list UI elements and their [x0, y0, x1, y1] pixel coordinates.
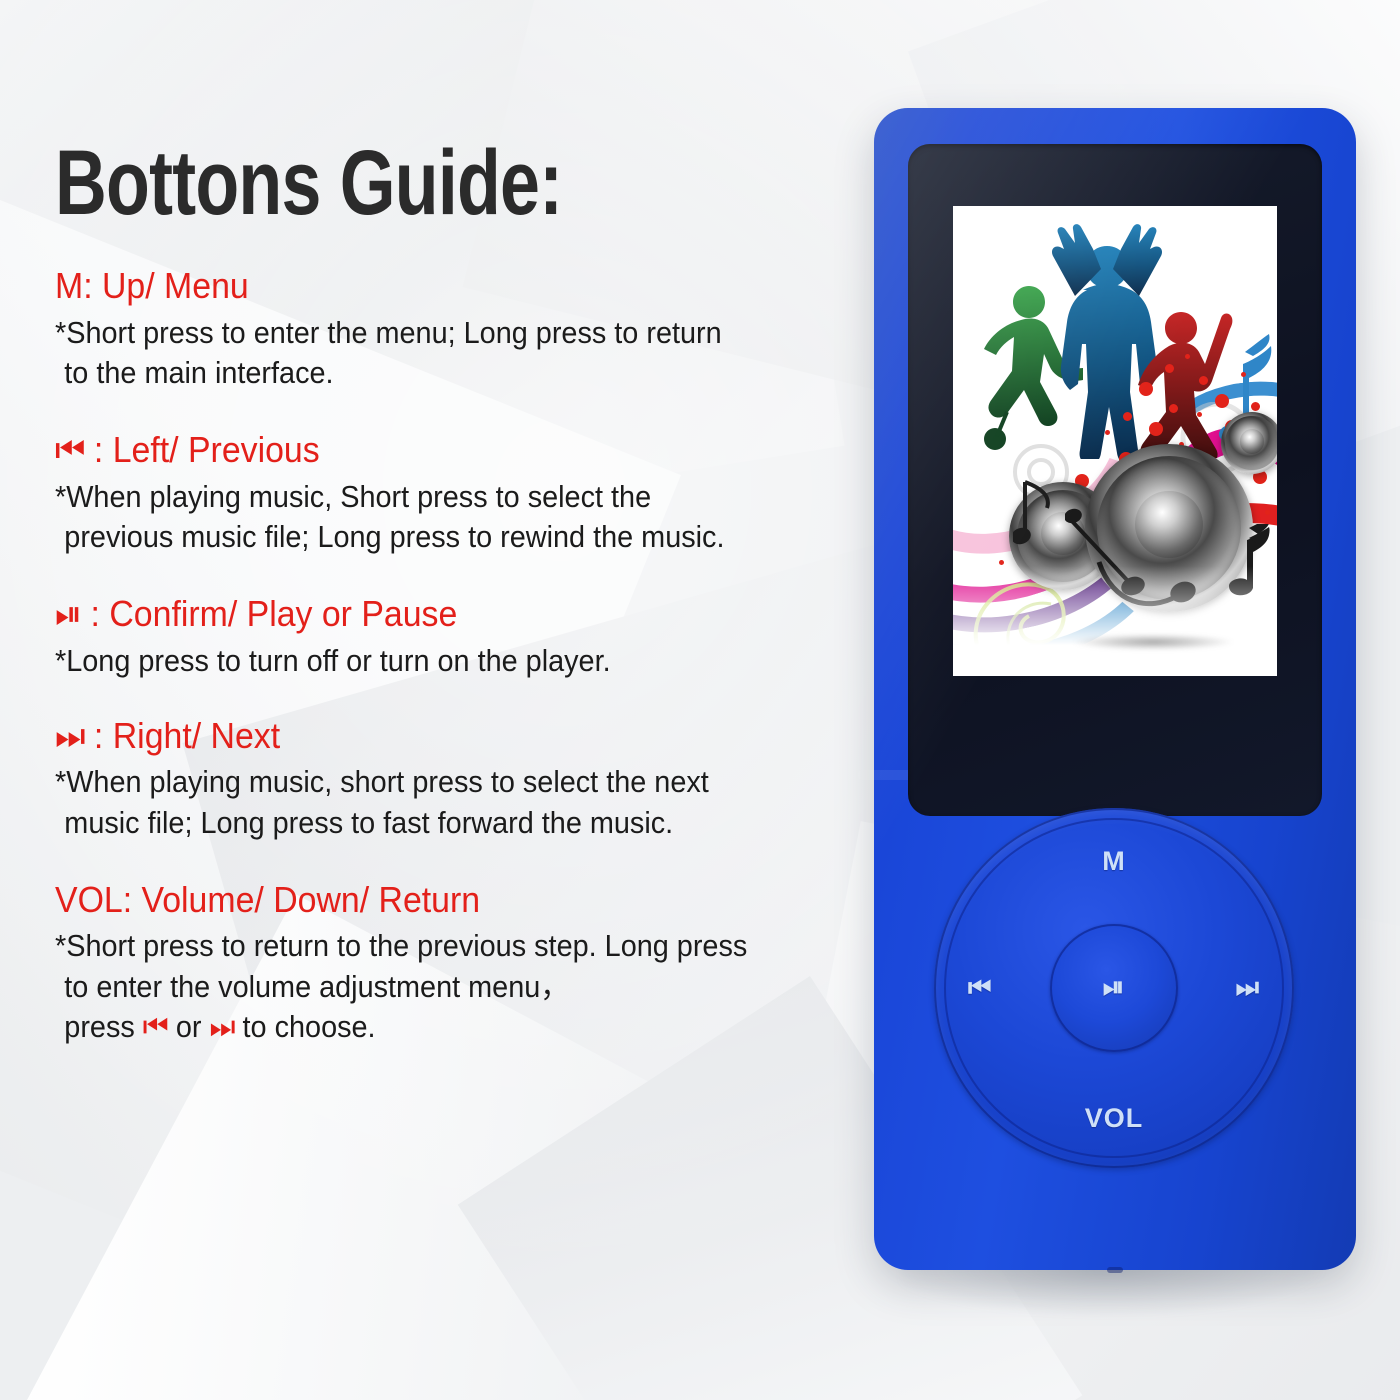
- section-next-line-2: music file; Long press to fast forward t…: [55, 803, 808, 843]
- section-menu-line-2: to the main interface.: [55, 353, 808, 393]
- mp3-player-device: M ⏮ ⏭ VOL ⏯: [874, 108, 1356, 1270]
- previous-track-inline-icon: ⏮: [143, 1009, 168, 1044]
- previous-track-icon: ⏮: [55, 429, 85, 470]
- section-previous-body: *When playing music, Short press to sele…: [55, 477, 808, 558]
- section-menu-heading: M: Up/ Menu: [55, 265, 816, 306]
- section-volume-heading: VOL: Volume/ Down/ Return: [55, 879, 816, 920]
- lcd-bottom-fade: [953, 566, 1277, 676]
- section-menu-line-1: *Short press to enter the menu; Long pre…: [55, 313, 808, 353]
- section-previous-heading: ⏮ : Left/ Previous: [55, 429, 816, 470]
- section-volume-press-suffix: to choose.: [235, 1009, 376, 1044]
- section-previous-line-2: previous music file; Long press to rewin…: [55, 517, 808, 557]
- section-volume-press-middle: or: [168, 1009, 210, 1044]
- lcd-wallpaper-art: [953, 206, 1277, 676]
- section-volume-press-prefix: press: [64, 1009, 143, 1044]
- play-pause-button[interactable]: ⏯: [1050, 924, 1178, 1052]
- section-volume-line-3: press ⏮ or ⏭ to choose.: [55, 1007, 808, 1047]
- play-pause-button-label: ⏯: [1103, 972, 1126, 1004]
- screen-panel: [908, 144, 1322, 816]
- section-volume: VOL: Volume/ Down/ Return *Short press t…: [55, 879, 865, 1047]
- section-play-pause-heading-label: : Confirm/ Play or Pause: [91, 593, 458, 634]
- section-menu-heading-label: M: Up/ Menu: [55, 265, 249, 306]
- section-menu: M: Up/ Menu *Short press to enter the me…: [55, 265, 865, 393]
- section-next-heading-label: : Right/ Next: [94, 715, 280, 756]
- next-button[interactable]: ⏭: [1236, 972, 1260, 1004]
- menu-button[interactable]: M: [1102, 846, 1126, 877]
- lcd-contact-shadow: [1073, 634, 1233, 650]
- next-track-inline-icon: ⏭: [209, 1009, 234, 1044]
- next-track-icon: ⏭: [55, 715, 85, 756]
- section-volume-line-1: *Short press to return to the previous s…: [55, 926, 808, 966]
- section-next-body: *When playing music, short press to sele…: [55, 762, 808, 843]
- section-next-line-1: *When playing music, short press to sele…: [55, 762, 808, 802]
- section-menu-body: *Short press to enter the menu; Long pre…: [55, 313, 808, 394]
- section-play-pause: ⏯ : Confirm/ Play or Pause *Long press t…: [55, 593, 865, 681]
- section-previous: ⏮ : Left/ Previous *When playing music, …: [55, 429, 865, 557]
- page-title: Bottons Guide:: [55, 140, 687, 227]
- section-next: ⏭ : Right/ Next *When playing music, sho…: [55, 715, 865, 843]
- side-port-mark: [858, 770, 912, 780]
- section-volume-line-2: to enter the volume adjustment menu，: [55, 967, 808, 1007]
- volume-button[interactable]: VOL: [1085, 1103, 1144, 1134]
- section-volume-heading-label: VOL: Volume/ Down/ Return: [55, 879, 480, 920]
- section-volume-body: *Short press to return to the previous s…: [55, 926, 808, 1047]
- section-play-pause-line-1: *Long press to turn off or turn on the p…: [55, 641, 808, 681]
- section-play-pause-heading: ⏯ : Confirm/ Play or Pause: [55, 593, 816, 634]
- play-pause-icon: ⏯: [55, 593, 81, 634]
- buttons-guide-text-column: Bottons Guide: M: Up/ Menu *Short press …: [55, 140, 865, 1069]
- control-wheel[interactable]: M ⏮ ⏭ VOL ⏯: [934, 808, 1294, 1168]
- section-previous-line-1: *When playing music, Short press to sele…: [55, 477, 808, 517]
- bottom-seam-notch: [1107, 1267, 1123, 1273]
- infographic-page: Bottons Guide: M: Up/ Menu *Short press …: [0, 0, 1400, 1400]
- section-play-pause-body: *Long press to turn off or turn on the p…: [55, 641, 808, 681]
- section-next-heading: ⏭ : Right/ Next: [55, 715, 816, 756]
- music-note-black-left-icon: [1013, 474, 1073, 552]
- previous-button[interactable]: ⏮: [968, 972, 992, 1004]
- speaker-small: [1221, 412, 1277, 474]
- lcd-screen: [953, 206, 1277, 676]
- section-previous-heading-label: : Left/ Previous: [94, 429, 320, 470]
